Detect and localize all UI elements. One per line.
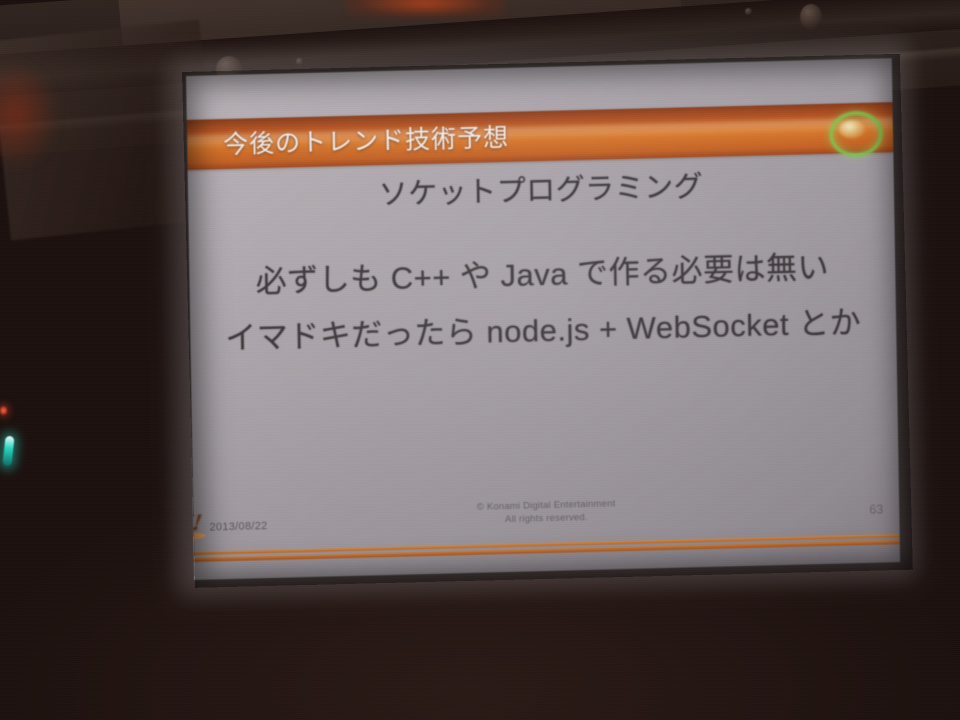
slide-page-number: 63 (869, 502, 883, 516)
slide-body: ソケットプログラミング 必ずしも C++ や Java で作る必要は無い イマド… (188, 152, 899, 500)
slide-body-line-3: イマドキだったら node.js + WebSocket とか (190, 296, 897, 359)
wall-light-glow (0, 60, 60, 170)
projection-screen: 今後のトレンド技術予想 ソケットプログラミング 必ずしも C++ や Java … (186, 58, 900, 580)
ceiling-light-glow (345, 0, 505, 18)
slide-title: 今後のトレンド技術予想 (223, 118, 510, 161)
conference-room-background: 今後のトレンド技術予想 ソケットプログラミング 必ずしも C++ や Java … (0, 0, 960, 720)
ceiling-downlight-icon (800, 4, 822, 30)
slide-body-line-1: ソケットプログラミング (188, 158, 894, 218)
slide-footer: © Konami Digital Entertainment All right… (193, 490, 900, 564)
konami-logo (825, 108, 882, 151)
status-led-teal (2, 436, 14, 467)
ceiling-screw-icon (745, 8, 752, 15)
slide-surface: 今後のトレンド技術予想 ソケットプログラミング 必ずしも C++ や Java … (186, 58, 900, 580)
slide-date: 2013/08/22 (209, 520, 267, 533)
status-led-red (0, 406, 7, 415)
slide-body-line-2: 必ずしも C++ や Java で作る必要は無い (189, 240, 896, 303)
